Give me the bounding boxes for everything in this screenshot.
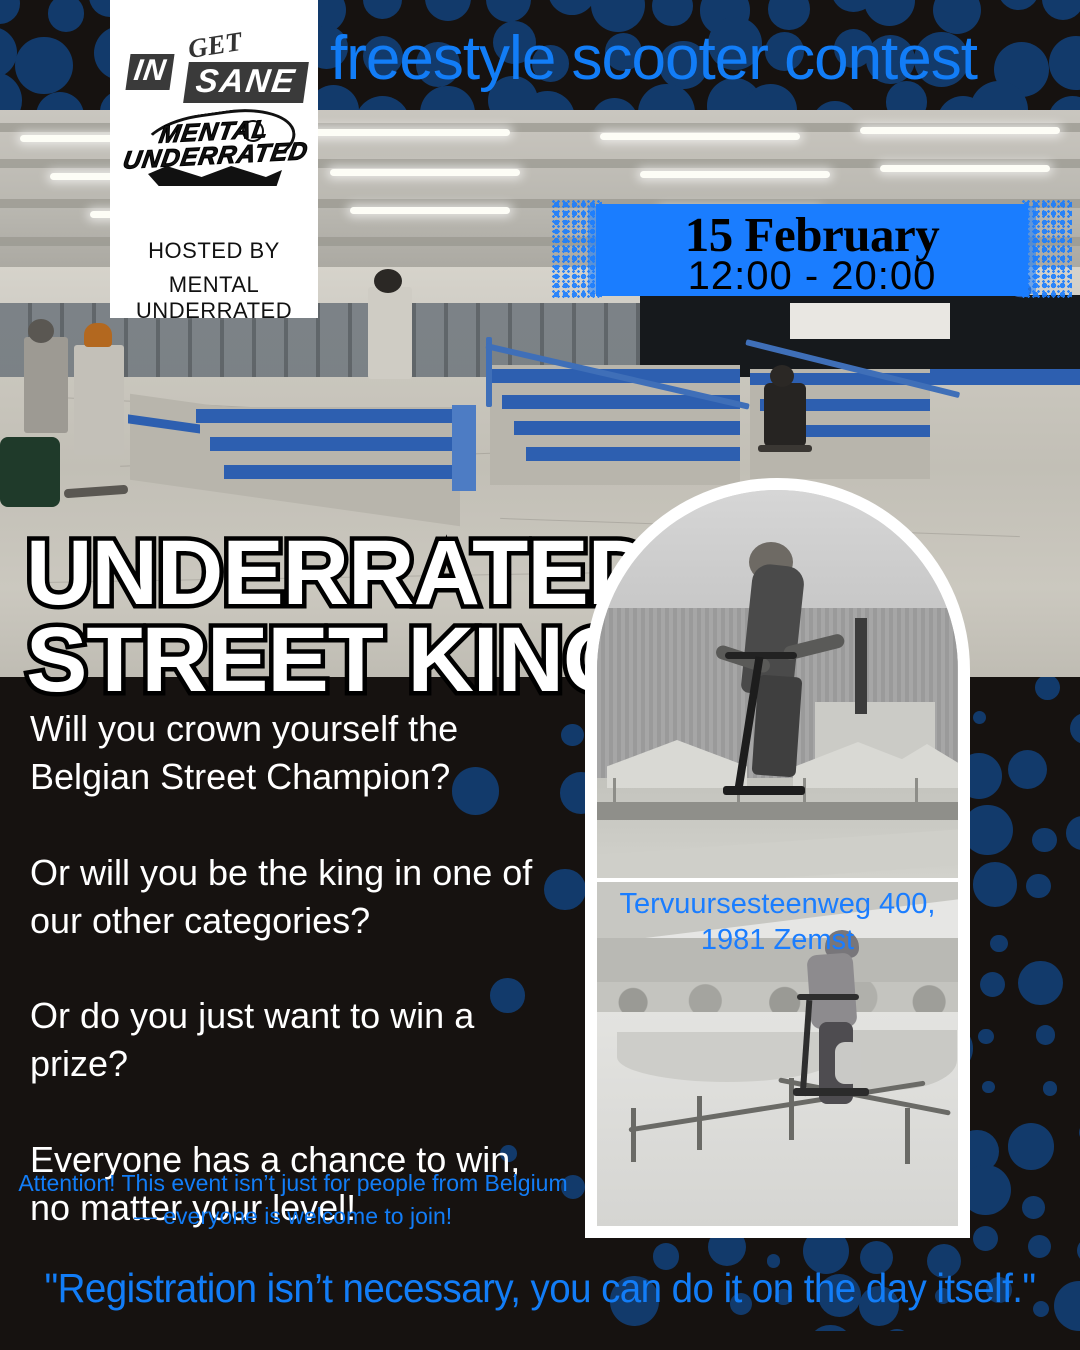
bushes bbox=[597, 982, 958, 1016]
decorative-dot bbox=[1036, 1025, 1055, 1044]
spectator-cap bbox=[84, 323, 112, 347]
decorative-dot bbox=[1032, 828, 1056, 852]
skater-head bbox=[374, 269, 402, 293]
ceiling-light bbox=[880, 165, 1050, 172]
ceiling-light bbox=[600, 133, 800, 140]
decorative-dot bbox=[982, 1081, 994, 1093]
decorative-dot bbox=[363, 0, 402, 19]
spectator-head bbox=[28, 319, 54, 343]
decorative-dot bbox=[1048, 96, 1080, 110]
decorative-dot bbox=[520, 91, 576, 110]
decorative-dot bbox=[1018, 961, 1062, 1005]
decorative-dot bbox=[1054, 1281, 1080, 1331]
decorative-dot bbox=[812, 101, 858, 110]
logo-in-text: IN bbox=[125, 54, 174, 90]
page-title: freestyle scooter contest bbox=[330, 28, 1070, 90]
decorative-dot bbox=[1026, 874, 1050, 898]
event-time: 12:00 - 20:00 bbox=[596, 254, 1028, 299]
hosted-by-label: HOSTED BY bbox=[110, 238, 318, 264]
decorative-dot bbox=[1070, 713, 1080, 744]
wall-banner bbox=[790, 303, 950, 339]
hosted-by-card: IN GET SANE MENTAL UNDERRATED HOSTED BY … bbox=[110, 0, 318, 318]
stair-step bbox=[196, 409, 466, 423]
decorative-dot bbox=[548, 0, 596, 15]
decorative-dot bbox=[48, 0, 84, 32]
logo-get-text: GET bbox=[186, 26, 244, 65]
rider-kneepad bbox=[835, 1042, 861, 1084]
decorative-dot bbox=[355, 96, 410, 110]
host-name: MENTAL UNDERRATED bbox=[110, 272, 318, 324]
decorative-dot bbox=[0, 0, 20, 24]
decorative-dot bbox=[1008, 1123, 1055, 1170]
decorative-dot bbox=[1043, 1081, 1057, 1095]
main-headline: UNDERRATED STREET KING bbox=[26, 530, 653, 705]
decorative-dot bbox=[0, 72, 22, 110]
decorative-dot bbox=[1066, 816, 1080, 849]
arch-photo-card: Tervuursesteenweg 400, 1981 Zemst bbox=[585, 478, 970, 1238]
registration-note: "Registration isn’t necessary, you can d… bbox=[32, 1265, 1047, 1312]
backpack bbox=[0, 437, 60, 507]
decorative-dot bbox=[425, 0, 471, 21]
decorative-dot bbox=[937, 96, 990, 110]
scooter-deck bbox=[723, 786, 805, 795]
decorative-dot bbox=[831, 0, 876, 12]
mental-underrated-logo: MENTAL UNDERRATED bbox=[124, 112, 304, 190]
rail-post bbox=[789, 1078, 794, 1140]
stair-step bbox=[526, 447, 740, 461]
decorative-dot bbox=[973, 862, 1017, 906]
decorative-dot bbox=[884, 1329, 910, 1331]
decorative-dot bbox=[652, 0, 692, 26]
ceiling-light bbox=[330, 169, 520, 176]
decorative-dot bbox=[808, 1325, 853, 1331]
event-poster: S bbox=[0, 0, 1080, 1350]
rail-post bbox=[631, 1108, 636, 1162]
decorative-dot bbox=[998, 0, 1039, 10]
rail-post bbox=[905, 1108, 910, 1164]
decorative-dot bbox=[973, 1226, 998, 1251]
rider-legs bbox=[752, 675, 803, 778]
decorative-dot bbox=[36, 92, 84, 110]
spectator bbox=[74, 345, 124, 455]
decorative-dot bbox=[15, 37, 72, 94]
ceiling-light bbox=[350, 207, 510, 214]
date-banner: 15 February 12:00 - 20:00 bbox=[596, 204, 1028, 296]
decorative-dot bbox=[1022, 1196, 1045, 1219]
rider-torso bbox=[806, 952, 857, 1029]
skate-ledge bbox=[597, 802, 958, 820]
stair-step bbox=[514, 421, 740, 435]
wall-pipe bbox=[855, 618, 867, 714]
body-copy: Will you crown yourself the Belgian Stre… bbox=[30, 705, 575, 1232]
spectator bbox=[24, 337, 68, 433]
decorative-dot bbox=[1008, 750, 1047, 789]
decorative-dot bbox=[990, 935, 1007, 952]
skateboarder-head bbox=[770, 365, 794, 387]
skater bbox=[368, 287, 412, 379]
stair-step bbox=[224, 465, 468, 479]
decorative-dot bbox=[864, 0, 915, 26]
skateboarder bbox=[764, 383, 806, 447]
decorative-dot bbox=[1035, 677, 1060, 700]
decorative-dot bbox=[978, 1029, 994, 1045]
get-insane-logo: IN GET SANE bbox=[126, 30, 302, 102]
decorative-dot bbox=[980, 972, 1005, 997]
decorative-dot bbox=[0, 27, 17, 78]
scooter-deck bbox=[793, 1088, 869, 1096]
scooter-rider-airborne-photo bbox=[597, 490, 958, 878]
rail-post bbox=[697, 1096, 702, 1150]
decorative-dot bbox=[973, 711, 986, 724]
skateboard bbox=[758, 445, 812, 452]
decorative-dot bbox=[1028, 1235, 1051, 1258]
venue-address: Tervuursesteenweg 400, 1981 Zemst bbox=[597, 886, 958, 959]
logo-sane-text: SANE bbox=[183, 62, 308, 103]
stair-step bbox=[210, 437, 468, 451]
ceiling-light bbox=[640, 171, 830, 178]
blue-ledge bbox=[930, 369, 1080, 385]
ceiling-light bbox=[300, 129, 510, 136]
ceiling-light bbox=[860, 127, 1060, 134]
attention-note: Attention! This event isn’t just for peo… bbox=[8, 1167, 578, 1234]
decorative-dot bbox=[1042, 0, 1080, 20]
decorative-dot bbox=[486, 0, 531, 22]
stair-side bbox=[452, 405, 476, 491]
decorative-dot bbox=[591, 98, 638, 110]
